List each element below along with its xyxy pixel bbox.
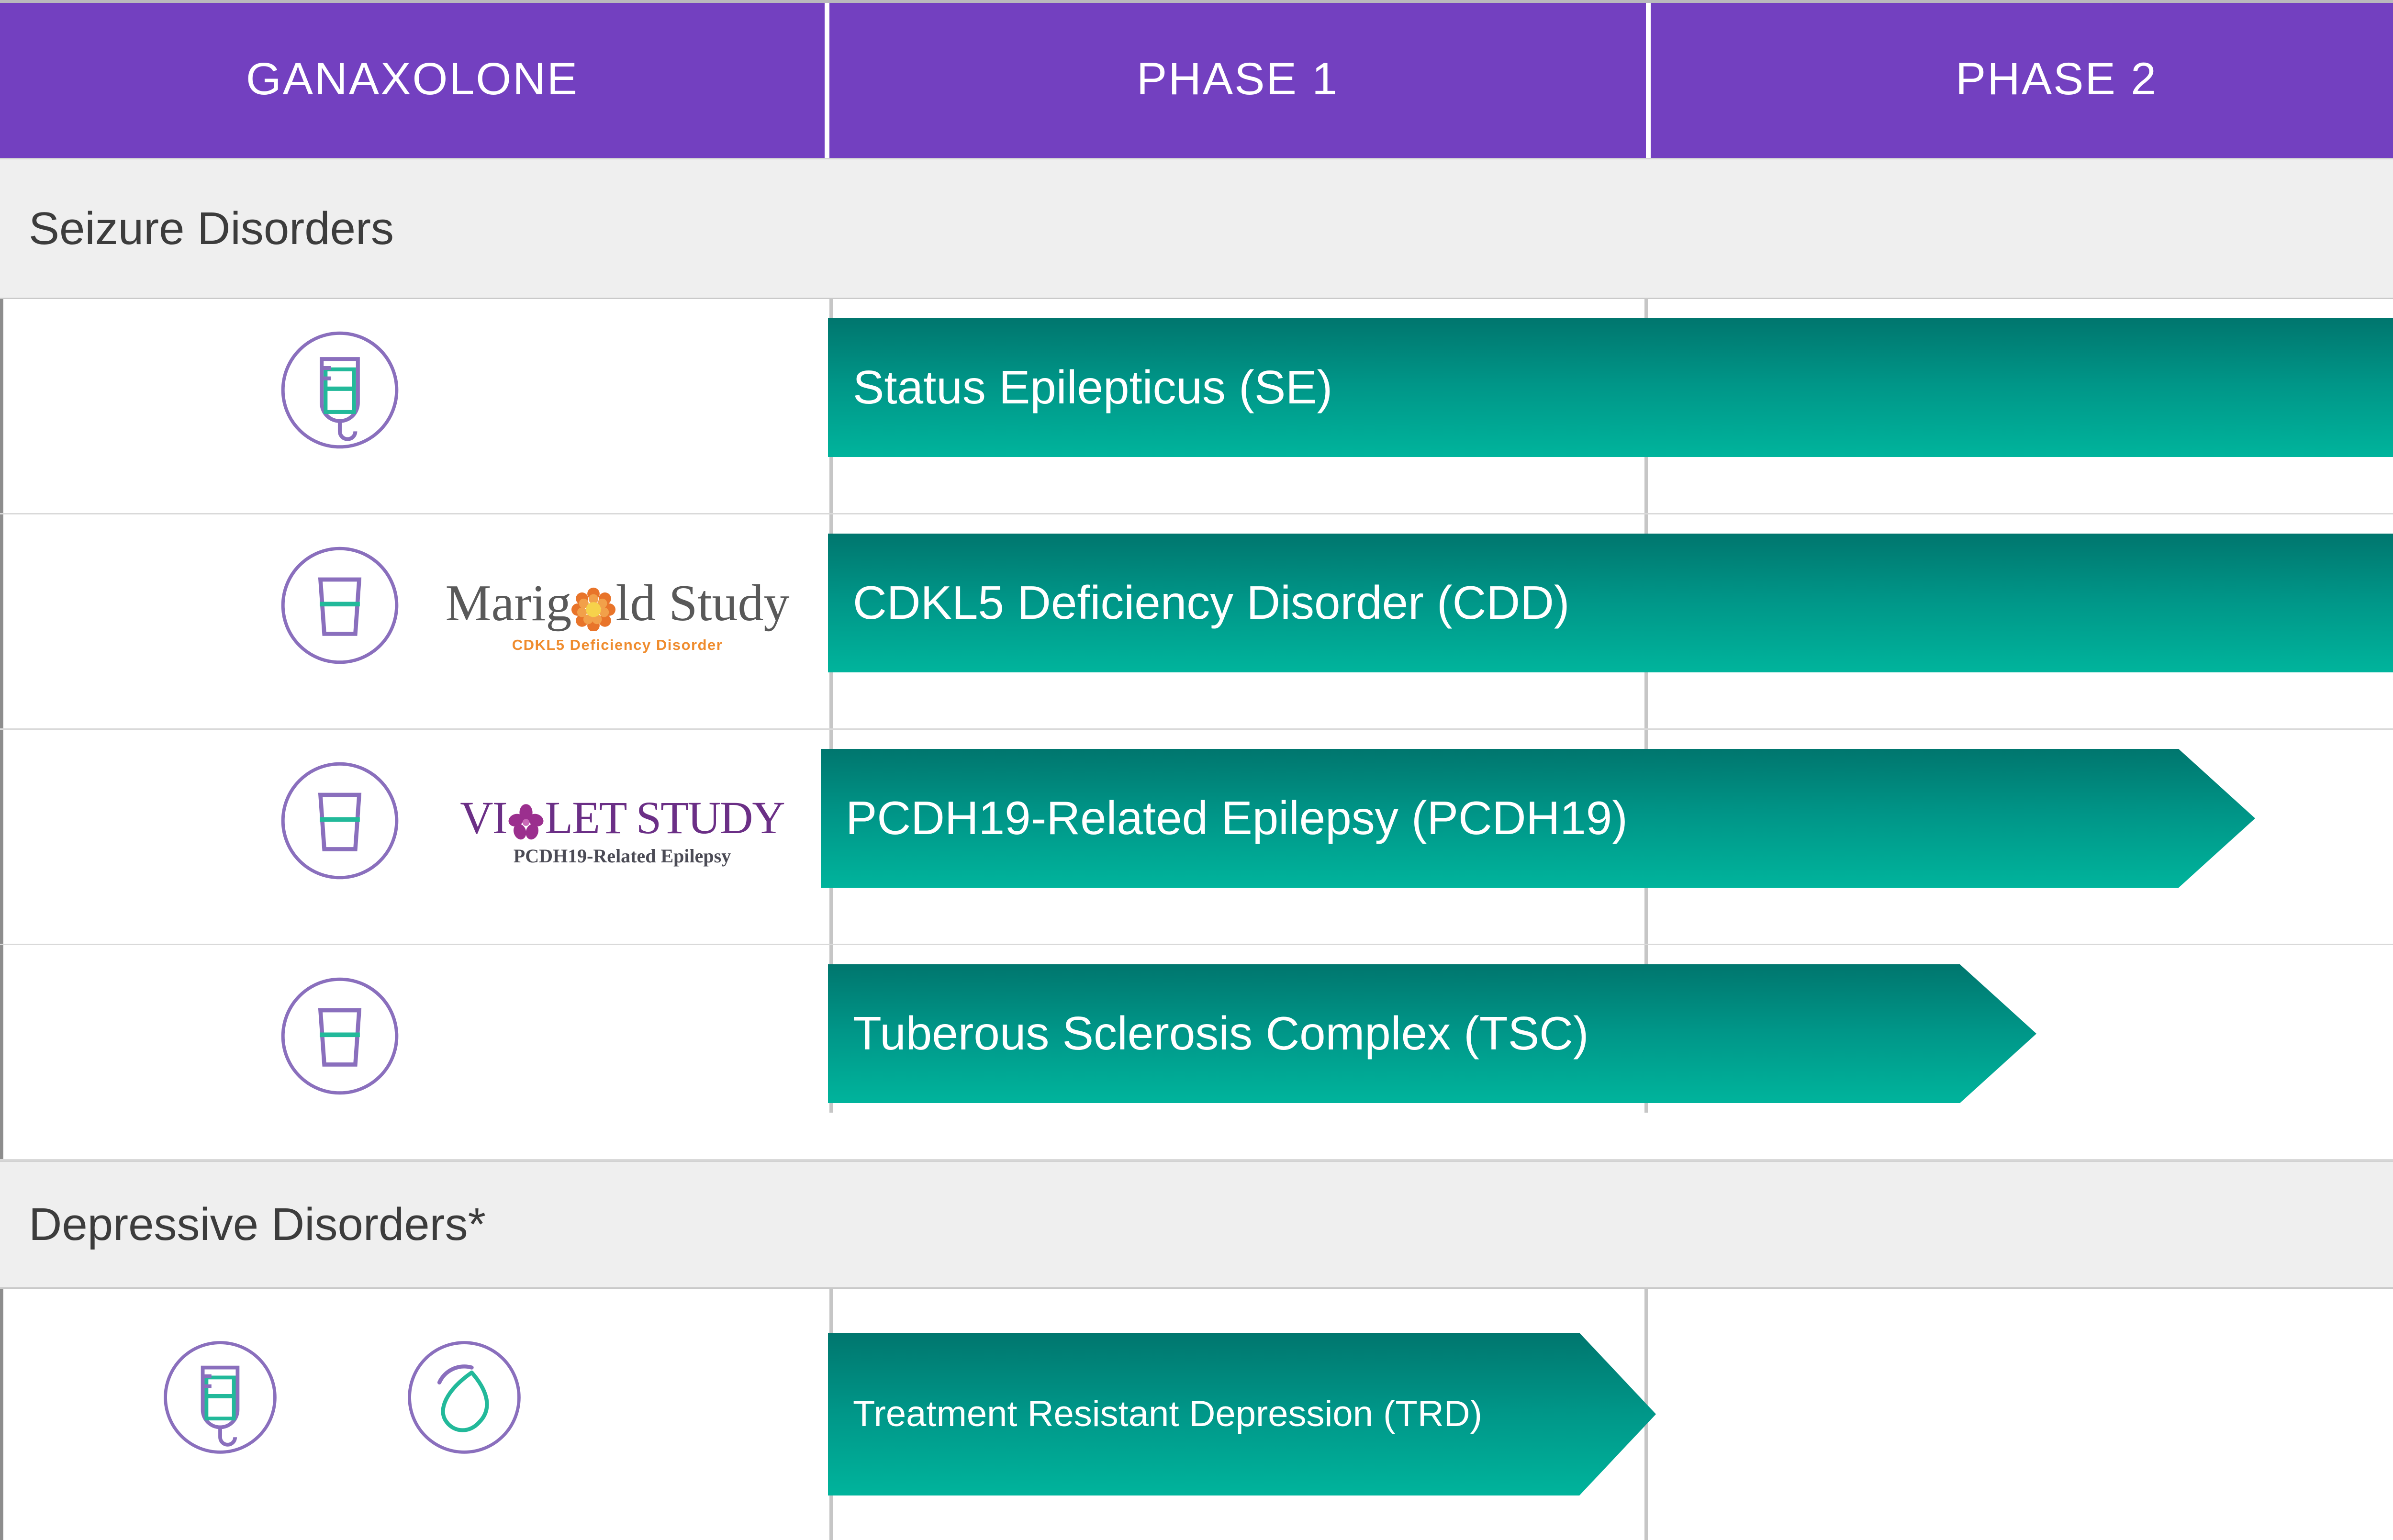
study-logo-marigold: Marig [431,560,804,670]
oral-suspension-icon [275,541,404,670]
study-logo-violet-word-before: VI [460,795,506,841]
header-divider-2 [1646,0,1651,158]
header-divider-1 [825,0,829,158]
phase-bar-status-epilepticus-label: Status Epilepticus (SE) [828,360,1332,415]
phase-bar-treatment-resistant-depression-label: Treatment Resistant Depression (TRD) [828,1391,1482,1438]
study-logo-marigold-word-before: Marig [445,578,571,629]
phase-bar-pcdh19-related-epilepsy: PCDH19-Related Epilepsy (PCDH19) [821,749,2255,888]
study-logo-marigold-word-after: ld Study [615,578,789,629]
phase-bar-pcdh19-related-epilepsy-label: PCDH19-Related Epilepsy (PCDH19) [821,791,1628,846]
column-header-ganaxolone: GANAXOLONE [0,0,825,158]
study-logo-violet: VI LET STUDY PCDH19-Related Epilepsy [440,775,804,885]
column-header-ganaxolone-label: GANAXOLONE [246,53,579,105]
phase-bar-cdkl5-deficiency-disorder: CDKL5 Deficiency Disorder (CDD) [828,534,2393,672]
oral-suspension-icon [275,756,404,885]
oral-suspension-icon [275,971,404,1101]
section-header-seizure-disorders-label: Seizure Disorders [0,202,394,255]
column-header-phase-2: PHASE 2 [1651,0,2393,158]
section-header-seizure-disorders: Seizure Disorders [0,158,2393,299]
capsule-icon [402,1335,526,1460]
study-logo-violet-wordmark: VI LET STUDY [460,795,784,841]
phase-bar-tuberous-sclerosis-complex-label: Tuberous Sclerosis Complex (TSC) [828,1006,1589,1061]
section-header-depressive-disorders: Depressive Disorders* [0,1161,2393,1289]
marigold-flower-icon [571,578,615,631]
phase-bar-status-epilepticus: Status Epilepticus (SE) [828,318,2393,457]
top-border [0,0,2393,3]
phase-bar-cdkl5-deficiency-disorder-label: CDKL5 Deficiency Disorder (CDD) [828,575,1570,631]
study-logo-marigold-subtitle: CDKL5 Deficiency Disorder [512,637,723,652]
phase-bar-treatment-resistant-depression: Treatment Resistant Depression (TRD) [828,1333,1656,1495]
column-header-phase-2-label: PHASE 2 [1956,53,2158,105]
pipeline-chart: GANAXOLONE PHASE 1 PHASE 2 PHASE 3 Seizu… [0,0,2393,1540]
iv-bag-icon [158,1335,282,1460]
column-header-phase-1: PHASE 1 [829,0,1646,158]
iv-bag-icon [275,325,404,455]
table-header-row: GANAXOLONE PHASE 1 PHASE 2 PHASE 3 [0,0,2393,158]
study-logo-violet-word-after: LET STUDY [545,795,784,841]
study-logo-marigold-wordmark: Marig [445,578,789,631]
study-logo-violet-subtitle: PCDH19-Related Epilepsy [514,847,731,866]
phase-bar-tuberous-sclerosis-complex: Tuberous Sclerosis Complex (TSC) [828,964,2036,1103]
column-header-phase-1-label: PHASE 1 [1137,53,1339,105]
violet-flower-icon [507,795,545,841]
section-header-depressive-disorders-label: Depressive Disorders* [0,1198,486,1251]
